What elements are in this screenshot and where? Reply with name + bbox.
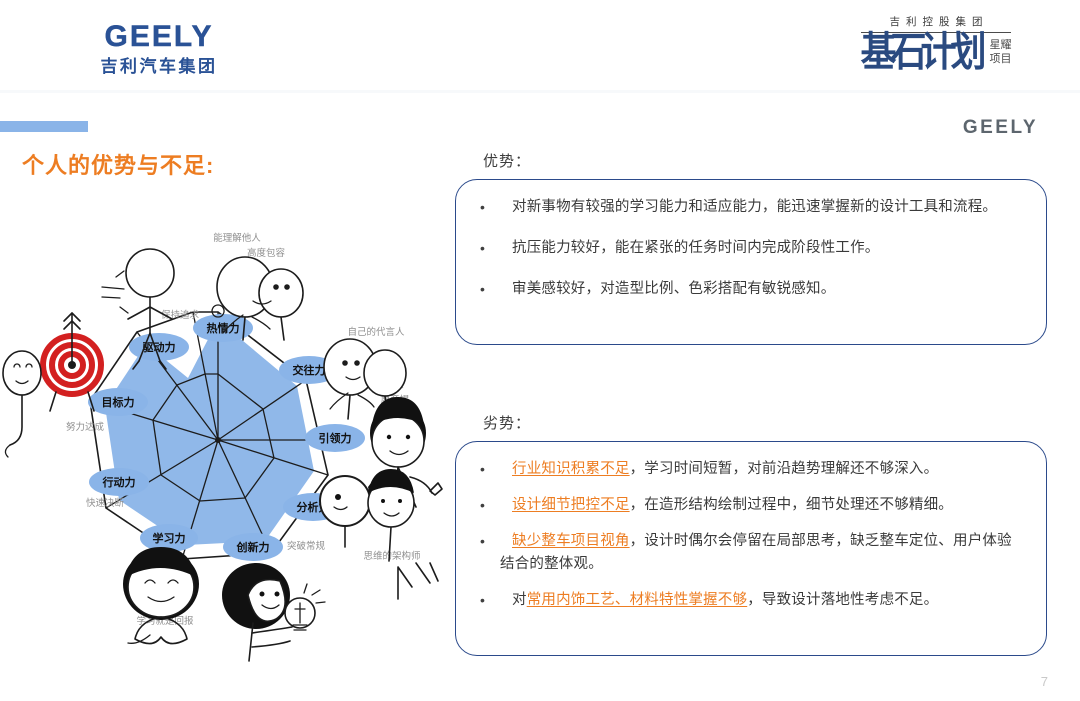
page-number: 7: [1041, 674, 1048, 689]
note-understand-others: 能理解他人: [213, 232, 261, 244]
geely-wordmark: GEELY: [105, 22, 214, 52]
svg-text:行动力: 行动力: [102, 475, 136, 489]
advantages-bullet-list: •对新事物有较强的学习能力和适应能力，能迅速掌握新的设计工具和流程。•抗压能力较…: [456, 180, 1046, 344]
bullet-marker: •: [480, 530, 500, 553]
note-quick-decision: 快速决断: [86, 497, 125, 509]
advantage-bullet-item: •审美感较好，对造型比例、色彩搭配有敏锐感知。: [480, 278, 1020, 301]
note-own-spokesman: 自己的代言人: [347, 326, 405, 338]
plain-phrase: 审美感较好，对造型比例、色彩搭配有敏锐感知。: [512, 281, 835, 297]
bullet-marker: •: [480, 494, 500, 517]
disadvantage-bullet-text: 设计细节把控不足，在造形结构绘制过程中，细节处理还不够精细。: [500, 494, 1020, 517]
plain-phrase: ，导致设计落地性考虑不足。: [747, 592, 938, 608]
slide-root: GEELY 吉利汽车集团 吉利控股集团 基石计划 星耀 项目 个人的优势与不足:…: [0, 0, 1080, 701]
bullet-marker: •: [480, 237, 500, 260]
note-keep-pursuit: 保持追求: [161, 309, 200, 321]
header-rule: [0, 90, 1080, 93]
brand-side-line1: 星耀: [990, 39, 1012, 53]
disadvantage-bullet-item: •设计细节把控不足，在造形结构绘制过程中，细节处理还不够精细。: [480, 494, 1020, 517]
axis-label-chuangxin: 创新力: [223, 533, 283, 561]
figure-standing-right: [398, 563, 438, 599]
svg-text:创新力: 创新力: [236, 540, 270, 554]
geely-secondary-wordmark: GEELY: [963, 117, 1038, 139]
axis-label-mubiao: 目标力: [88, 388, 148, 416]
figure-small-left: [3, 351, 41, 457]
brand-holding-group-text: 吉利控股集团: [836, 14, 1036, 29]
geely-logo: GEELY 吉利汽车集团: [84, 22, 234, 74]
advantage-bullet-item: •抗压能力较好，能在紧张的任务时间内完成阶段性工作。: [480, 237, 1020, 260]
highlighted-phrase: 常用内饰工艺、材料特性掌握不够: [527, 592, 748, 608]
svg-text:驱动力: 驱动力: [143, 340, 176, 354]
note-strive-achieve: 努力达成: [66, 421, 105, 433]
advantages-box: •对新事物有较强的学习能力和适应能力，能迅速掌握新的设计工具和流程。•抗压能力较…: [455, 179, 1047, 345]
title-accent-bar: [0, 121, 88, 132]
advantage-bullet-item: •对新事物有较强的学习能力和适应能力，能迅速掌握新的设计工具和流程。: [480, 196, 1020, 219]
page-title: 个人的优势与不足:: [22, 148, 214, 180]
advantage-bullet-text: 抗压能力较好，能在紧张的任务时间内完成阶段性工作。: [500, 237, 1020, 260]
svg-text:引领力: 引领力: [319, 431, 352, 445]
disadvantage-bullet-text: 对常用内饰工艺、材料特性掌握不够，导致设计落地性考虑不足。: [500, 589, 1020, 612]
note-tolerance: 高度包容: [247, 247, 286, 259]
disadvantage-bullet-item: •对常用内饰工艺、材料特性掌握不够，导致设计落地性考虑不足。: [480, 589, 1020, 612]
plain-phrase: ，学习时间短暂，对前沿趋势理解还不够深入。: [630, 461, 939, 477]
bullet-marker: •: [480, 278, 500, 301]
plain-phrase: 对新事物有较强的学习能力和适应能力，能迅速掌握新的设计工具和流程。: [512, 199, 997, 215]
note-thinking-architect: 思维的架构师: [363, 550, 420, 562]
axis-label-xingdong: 行动力: [89, 468, 149, 496]
slide-header: GEELY 吉利汽车集团 吉利控股集团 基石计划 星耀 项目: [0, 0, 1080, 90]
highlighted-phrase: 行业知识积累不足: [512, 461, 630, 477]
geely-chinese-name: 吉利汽车集团: [101, 58, 218, 75]
bullet-marker: •: [480, 196, 500, 219]
advantages-label: 优势：: [483, 150, 531, 171]
plain-phrase: ，在造形结构绘制过程中，细节处理还不够精细。: [630, 497, 953, 513]
figure-magnifier-person: [320, 469, 414, 561]
disadvantage-bullet-text: 缺少整车项目视角，设计时偶尔会停留在局部思考，缺乏整车定位、用户体验结合的整体观…: [500, 530, 1020, 576]
bullet-marker: •: [480, 589, 500, 612]
lightbulb-icon: [285, 584, 325, 630]
program-brand-mark: 吉利控股集团 基石计划 星耀 项目: [836, 14, 1036, 80]
brand-side-line2: 项目: [990, 53, 1012, 67]
highlighted-phrase: 设计细节把控不足: [512, 497, 630, 513]
advantage-bullet-text: 审美感较好，对造型比例、色彩搭配有敏锐感知。: [500, 278, 1020, 301]
disadvantages-label: 劣势：: [483, 412, 531, 433]
brand-program-name: 基石计划: [860, 32, 980, 74]
plain-phrase: 抗压能力较好，能在紧张的任务时间内完成阶段性工作。: [512, 240, 880, 256]
figure-idea-person: [222, 563, 325, 661]
disadvantage-bullet-item: •缺少整车项目视角，设计时偶尔会停留在局部思考，缺乏整车定位、用户体验结合的整体…: [480, 530, 1020, 576]
advantage-bullet-text: 对新事物有较强的学习能力和适应能力，能迅速掌握新的设计工具和流程。: [500, 196, 1020, 219]
figure-learner: [123, 547, 199, 644]
competency-radar-illustration: .ln { fill:none; stroke:#1c1c1c; stroke-…: [0, 195, 455, 665]
note-break-convention: 突破常规: [287, 540, 326, 552]
disadvantages-bullet-list: •行业知识积累不足，学习时间短暂，对前沿趋势理解还不够深入。•设计细节把控不足，…: [456, 442, 1046, 655]
svg-text:目标力: 目标力: [102, 395, 135, 409]
disadvantage-bullet-item: •行业知识积累不足，学习时间短暂，对前沿趋势理解还不够深入。: [480, 458, 1020, 481]
radar-center: [215, 437, 221, 443]
disadvantages-box: •行业知识积累不足，学习时间短暂，对前沿趋势理解还不够深入。•设计细节把控不足，…: [455, 441, 1047, 656]
svg-text:交往力: 交往力: [293, 363, 326, 377]
axis-label-yinling: 引领力: [305, 424, 365, 452]
bullet-marker: •: [480, 458, 500, 481]
disadvantage-bullet-text: 行业知识积累不足，学习时间短暂，对前沿趋势理解还不够深入。: [500, 458, 1020, 481]
highlighted-phrase: 缺少整车项目视角: [512, 533, 630, 549]
svg-text:学习力: 学习力: [153, 531, 186, 545]
plain-phrase: 对: [512, 592, 527, 608]
